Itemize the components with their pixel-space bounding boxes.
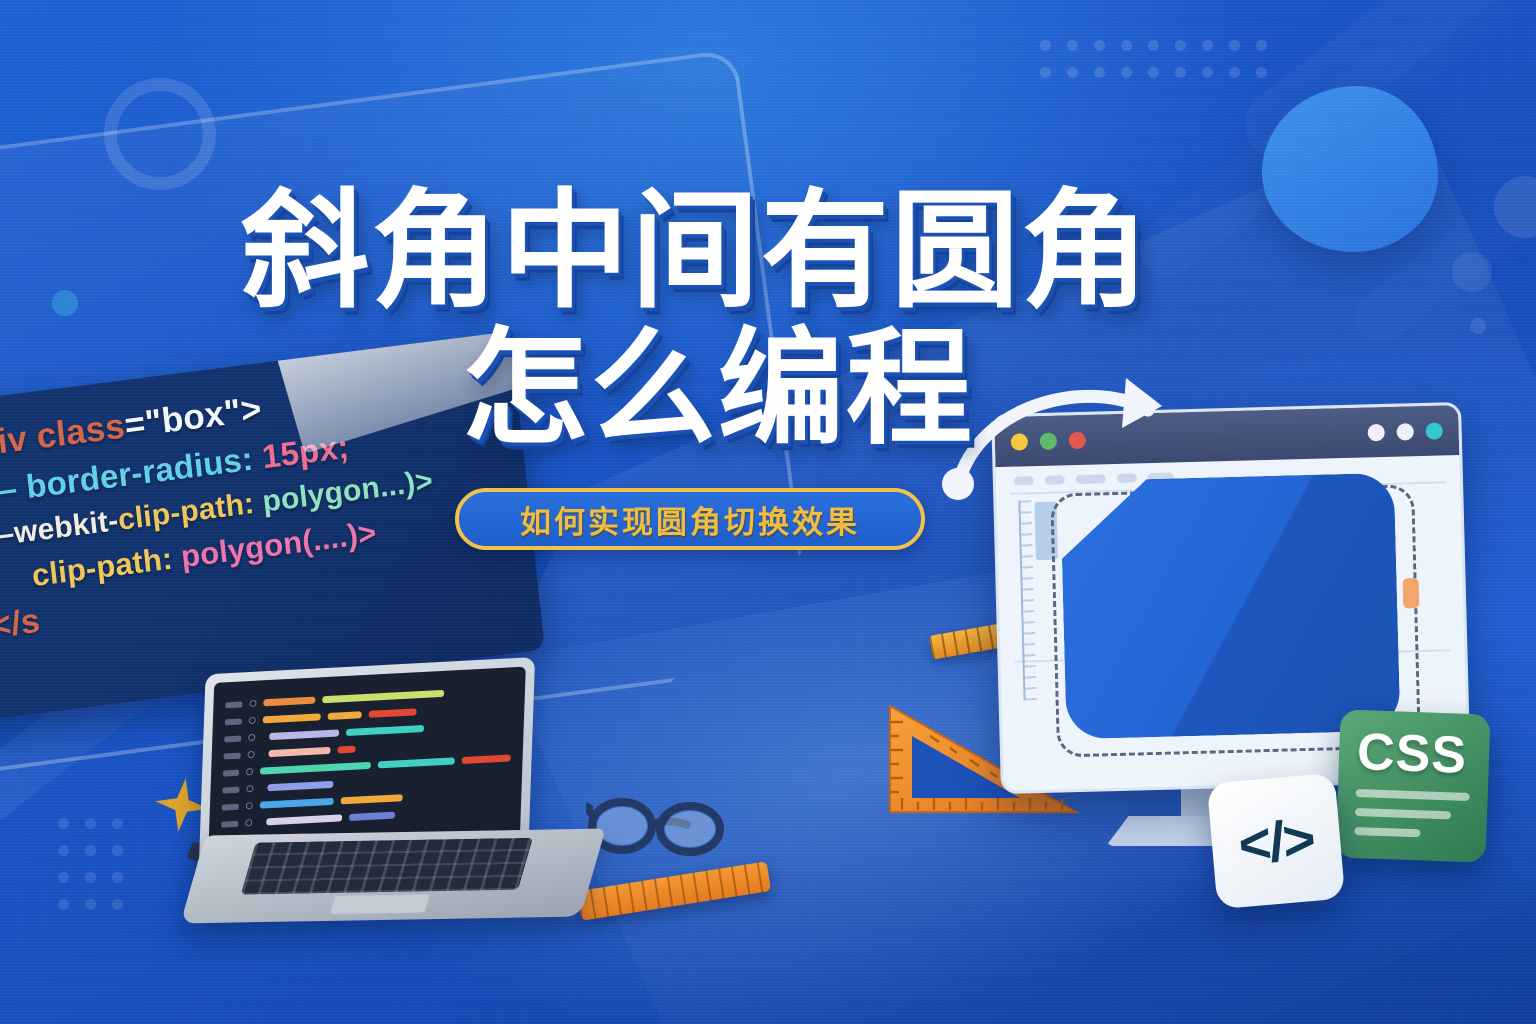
code-token: clip-path: xyxy=(116,486,264,537)
code-bar xyxy=(322,690,444,703)
window-control-teal-icon[interactable] xyxy=(1425,422,1442,439)
decor-dot xyxy=(1040,40,1051,51)
line-number xyxy=(225,718,242,725)
window-control-dot-icon[interactable] xyxy=(1396,423,1413,440)
decor-stripe xyxy=(1346,127,1536,353)
laptop-trackpad[interactable] xyxy=(329,893,431,915)
decor-dot xyxy=(1202,67,1213,78)
vertical-ruler xyxy=(1018,500,1036,700)
decor-dot xyxy=(1067,40,1078,51)
css-badge-line xyxy=(1354,827,1420,837)
fold-dot-icon xyxy=(246,785,253,792)
code-bar xyxy=(267,781,333,791)
code-bar xyxy=(337,746,355,754)
css-badge-line xyxy=(1356,789,1470,801)
laptop-screen xyxy=(208,667,526,858)
poster-canvas: <div class="box"> – border-radius: 15px;… xyxy=(0,0,1536,1024)
line-number xyxy=(222,803,239,810)
headline-line-2: 怎么编程 xyxy=(280,326,1156,452)
decor-dot xyxy=(85,845,96,856)
laptop-keyboard[interactable] xyxy=(241,838,533,895)
decor-dot xyxy=(1067,67,1078,78)
decor-dot xyxy=(1148,67,1159,78)
decor-dot xyxy=(85,818,96,829)
code-token: clip-path: xyxy=(30,539,183,593)
fold-dot-icon xyxy=(246,768,253,775)
resize-handle[interactable] xyxy=(1403,578,1420,608)
line-number xyxy=(223,769,239,776)
decor-dot xyxy=(112,899,123,910)
fold-dot-icon xyxy=(249,717,256,724)
decor-dot xyxy=(58,845,69,856)
decor-dot xyxy=(1121,40,1132,51)
decor-dot xyxy=(58,899,69,910)
fold-dot-icon xyxy=(246,802,253,809)
line-number xyxy=(225,701,242,708)
code-token: div class xyxy=(0,407,127,465)
code-bar xyxy=(378,757,455,768)
css-badge-label: CSS xyxy=(1356,726,1472,782)
code-bar xyxy=(260,798,334,809)
decor-dot xyxy=(1121,67,1132,78)
fold-dot-icon xyxy=(248,734,255,741)
fold-dot-icon xyxy=(249,700,256,707)
subtitle-pill: 如何实现圆角切换效果 xyxy=(455,488,925,550)
decor-dot xyxy=(1202,40,1213,51)
css-badge-line xyxy=(1355,808,1451,819)
line-number xyxy=(224,735,241,742)
decor-dot xyxy=(85,872,96,883)
decor-dot xyxy=(1094,40,1105,51)
decor-dot xyxy=(1148,40,1159,51)
headline-line-1: 斜角中间有圆角 xyxy=(236,188,1156,316)
decor-circle xyxy=(1470,318,1486,334)
code-bar xyxy=(263,713,321,723)
decor-ring xyxy=(104,78,216,190)
decor-dot xyxy=(58,872,69,883)
decor-dot xyxy=(1229,67,1240,78)
fold-dot-icon xyxy=(248,751,255,758)
decor-dot-grid xyxy=(1040,40,1283,94)
decor-dot xyxy=(112,872,123,883)
code-badge[interactable]: </> xyxy=(1207,773,1345,910)
code-bar xyxy=(462,754,511,764)
glasses-icon xyxy=(586,796,736,858)
decor-stripe xyxy=(1127,0,1536,288)
line-number xyxy=(222,786,239,793)
decor-circle xyxy=(52,290,78,316)
code-bar xyxy=(260,762,371,775)
decor-circle xyxy=(1494,176,1536,238)
decor-dot xyxy=(58,818,69,829)
fold-dot-icon xyxy=(245,819,252,826)
decor-circle xyxy=(1452,252,1492,292)
decor-dot xyxy=(1229,40,1240,51)
line-number xyxy=(224,752,241,759)
laptop-mockup xyxy=(186,666,606,946)
decor-dot xyxy=(1175,40,1186,51)
decor-dot xyxy=(1256,67,1267,78)
decor-dot xyxy=(112,845,123,856)
line-number xyxy=(221,820,238,827)
code-badge-glyph: </> xyxy=(1236,805,1316,876)
decor-dot-grid xyxy=(58,818,139,926)
decor-dot xyxy=(1256,40,1267,51)
code-bar xyxy=(263,697,315,707)
decor-stripe xyxy=(1231,0,1536,174)
decor-dot xyxy=(85,899,96,910)
code-bar xyxy=(328,711,362,720)
subtitle-pill-label: 如何实现圆角切换效果 xyxy=(520,497,860,542)
code-bar xyxy=(346,725,424,736)
code-bar xyxy=(341,794,403,804)
code-token: –webkit- xyxy=(0,504,120,552)
code-bar xyxy=(349,812,395,821)
code-bar xyxy=(269,729,339,740)
css-badge[interactable]: CSS xyxy=(1335,709,1490,862)
decor-dot xyxy=(1040,67,1051,78)
decor-dot xyxy=(1175,67,1186,78)
code-token: ></s xyxy=(0,602,42,648)
headline-block: 斜角中间有圆角 怎么编程 xyxy=(236,188,1156,452)
window-control-dot-icon[interactable] xyxy=(1367,423,1384,440)
laptop-base xyxy=(180,829,605,924)
decor-dot xyxy=(112,818,123,829)
decor-blob xyxy=(1262,86,1438,252)
code-bar xyxy=(369,708,417,718)
decor-dot xyxy=(1094,67,1105,78)
code-bar xyxy=(266,814,342,825)
code-bar xyxy=(268,747,330,757)
